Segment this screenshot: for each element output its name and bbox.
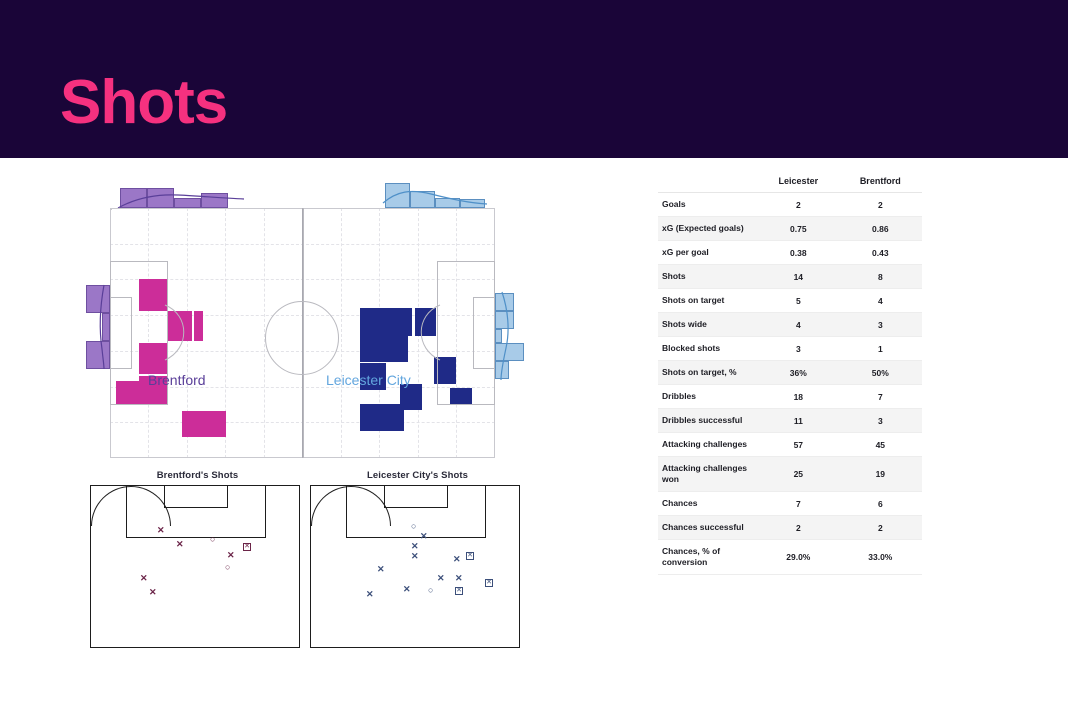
shot-marker-x: ✕ (366, 590, 374, 599)
table-row: Attacking challenges won2519 (658, 457, 922, 492)
table-row: Chances76 (658, 492, 922, 516)
shot-marker-o: ○ (428, 586, 433, 595)
table-row: Chances successful22 (658, 516, 922, 540)
shot-pitch-leicester: ○ ✕ ✕ ✕ ✕ ✕ ✕ ✕ ✕ ✕ ✕ ○ ✕ ✕ (310, 485, 520, 648)
stat-metric-label: xG (Expected goals) (658, 217, 758, 241)
table-row: xG per goal0.380.43 (658, 241, 922, 265)
stat-value-brentford: 8 (839, 265, 922, 289)
shotmap-brentford: Brentford's Shots ✕ ✕ ○ ✕ ✕ ○ ✕ ✕ (90, 470, 305, 648)
six-yard-box (164, 485, 228, 508)
stat-value-leicester: 4 (758, 313, 839, 337)
stat-value-brentford: 3 (839, 313, 922, 337)
stat-value-leicester: 25 (758, 457, 839, 492)
penalty-arc-right (404, 303, 444, 363)
table-row: Dribbles187 (658, 385, 922, 409)
stat-metric-label: Shots wide (658, 313, 758, 337)
stat-value-leicester: 2 (758, 193, 839, 217)
shotmap-leicester: Leicester City's Shots ○ ✕ ✕ ✕ ✕ ✕ ✕ ✕ ✕… (310, 470, 525, 648)
heatmap-label-leicester: Leicester City (326, 372, 411, 388)
table-row: Shots on target54 (658, 289, 922, 313)
shot-marker-x: ✕ (411, 552, 419, 561)
shot-marker-x: ✕ (437, 574, 445, 583)
stat-value-brentford: 6 (839, 492, 922, 516)
column-header-metric (658, 172, 758, 193)
stats-table-element: Leicester Brentford Goals22xG (Expected … (658, 172, 922, 575)
stat-value-leicester: 36% (758, 361, 839, 385)
table-row: Shots wide43 (658, 313, 922, 337)
shot-marker-x: ✕ (149, 588, 157, 597)
shot-marker-goal: ✕ (455, 587, 463, 595)
stat-value-brentford: 19 (839, 457, 922, 492)
heatmap-label-brentford: Brentford (148, 372, 206, 388)
shot-location-heatmap: Brentford Leicester City (78, 180, 538, 470)
stat-value-leicester: 29.0% (758, 540, 839, 575)
table-row: Blocked shots31 (658, 337, 922, 361)
stat-value-leicester: 2 (758, 516, 839, 540)
shot-pitch-brentford: ✕ ✕ ○ ✕ ✕ ○ ✕ ✕ (90, 485, 300, 648)
stat-value-brentford: 0.86 (839, 217, 922, 241)
shotmap-brentford-title: Brentford's Shots (90, 470, 305, 481)
stat-value-leicester: 18 (758, 385, 839, 409)
six-yard-box (384, 485, 448, 508)
stat-value-brentford: 3 (839, 409, 922, 433)
center-circle (265, 301, 339, 375)
table-row: Shots148 (658, 265, 922, 289)
stat-value-brentford: 50% (839, 361, 922, 385)
stats-header-row: Leicester Brentford (658, 172, 922, 193)
table-row: xG (Expected goals)0.750.86 (658, 217, 922, 241)
shot-marker-x: ✕ (176, 540, 184, 549)
stat-value-leicester: 0.75 (758, 217, 839, 241)
six-yard-box-left (110, 297, 132, 369)
kde-curve-left (116, 186, 246, 210)
stat-value-brentford: 1 (839, 337, 922, 361)
stat-metric-label: xG per goal (658, 241, 758, 265)
shot-marker-x: ✕ (403, 585, 411, 594)
stat-value-brentford: 33.0% (839, 540, 922, 575)
shot-marker-x: ✕ (455, 574, 463, 583)
stat-value-brentford: 0.43 (839, 241, 922, 265)
stat-metric-label: Chances successful (658, 516, 758, 540)
stat-metric-label: Chances (658, 492, 758, 516)
table-row: Goals22 (658, 193, 922, 217)
penalty-arc-left (162, 303, 202, 363)
pitch-surface (110, 208, 495, 458)
shot-marker-x: ✕ (420, 532, 428, 541)
stat-metric-label: Attacking challenges (658, 433, 758, 457)
shot-marker-x: ✕ (227, 551, 235, 560)
page-title: Shots (60, 72, 227, 134)
stat-value-leicester: 14 (758, 265, 839, 289)
stat-metric-label: Chances, % of conversion (658, 540, 758, 575)
shot-marker-goal: ✕ (466, 552, 474, 560)
shot-marker-goal: ✕ (485, 579, 493, 587)
stat-value-brentford: 45 (839, 433, 922, 457)
stat-metric-label: Shots on target, % (658, 361, 758, 385)
shot-marker-x: ✕ (453, 555, 461, 564)
table-row: Dribbles successful113 (658, 409, 922, 433)
shotmap-leicester-title: Leicester City's Shots (310, 470, 525, 481)
stat-value-brentford: 2 (839, 193, 922, 217)
stat-metric-label: Blocked shots (658, 337, 758, 361)
shot-marker-o: ○ (225, 563, 230, 572)
shot-marker-x: ✕ (377, 565, 385, 574)
match-stats-table: Leicester Brentford Goals22xG (Expected … (658, 172, 922, 575)
shot-marker-goal: ✕ (243, 543, 251, 551)
stat-value-leicester: 3 (758, 337, 839, 361)
six-yard-box-right (473, 297, 495, 369)
stat-metric-label: Goals (658, 193, 758, 217)
stat-value-leicester: 0.38 (758, 241, 839, 265)
header-band: Shots (0, 0, 1068, 158)
stat-metric-label: Dribbles successful (658, 409, 758, 433)
stat-metric-label: Shots (658, 265, 758, 289)
stat-value-leicester: 11 (758, 409, 839, 433)
stats-table-head: Leicester Brentford (658, 172, 922, 193)
stat-value-leicester: 5 (758, 289, 839, 313)
stat-metric-label: Dribbles (658, 385, 758, 409)
column-header-leicester: Leicester (758, 172, 839, 193)
shot-marker-x: ✕ (157, 526, 165, 535)
column-header-brentford: Brentford (839, 172, 922, 193)
stat-value-leicester: 7 (758, 492, 839, 516)
shot-marker-o: ○ (210, 535, 215, 544)
table-row: Chances, % of conversion29.0%33.0% (658, 540, 922, 575)
table-row: Shots on target, %36%50% (658, 361, 922, 385)
stat-value-brentford: 4 (839, 289, 922, 313)
kde-curve-right (381, 183, 489, 209)
table-row: Attacking challenges5745 (658, 433, 922, 457)
shot-marker-o: ○ (411, 522, 416, 531)
stat-value-brentford: 2 (839, 516, 922, 540)
stats-table-body: Goals22xG (Expected goals)0.750.86xG per… (658, 193, 922, 575)
kde-curve-side-left (86, 283, 112, 371)
kde-curve-side-right (492, 290, 520, 382)
stat-value-brentford: 7 (839, 385, 922, 409)
stat-metric-label: Attacking challenges won (658, 457, 758, 492)
shot-marker-x: ✕ (411, 542, 419, 551)
stat-metric-label: Shots on target (658, 289, 758, 313)
stat-value-leicester: 57 (758, 433, 839, 457)
shot-marker-x: ✕ (140, 574, 148, 583)
